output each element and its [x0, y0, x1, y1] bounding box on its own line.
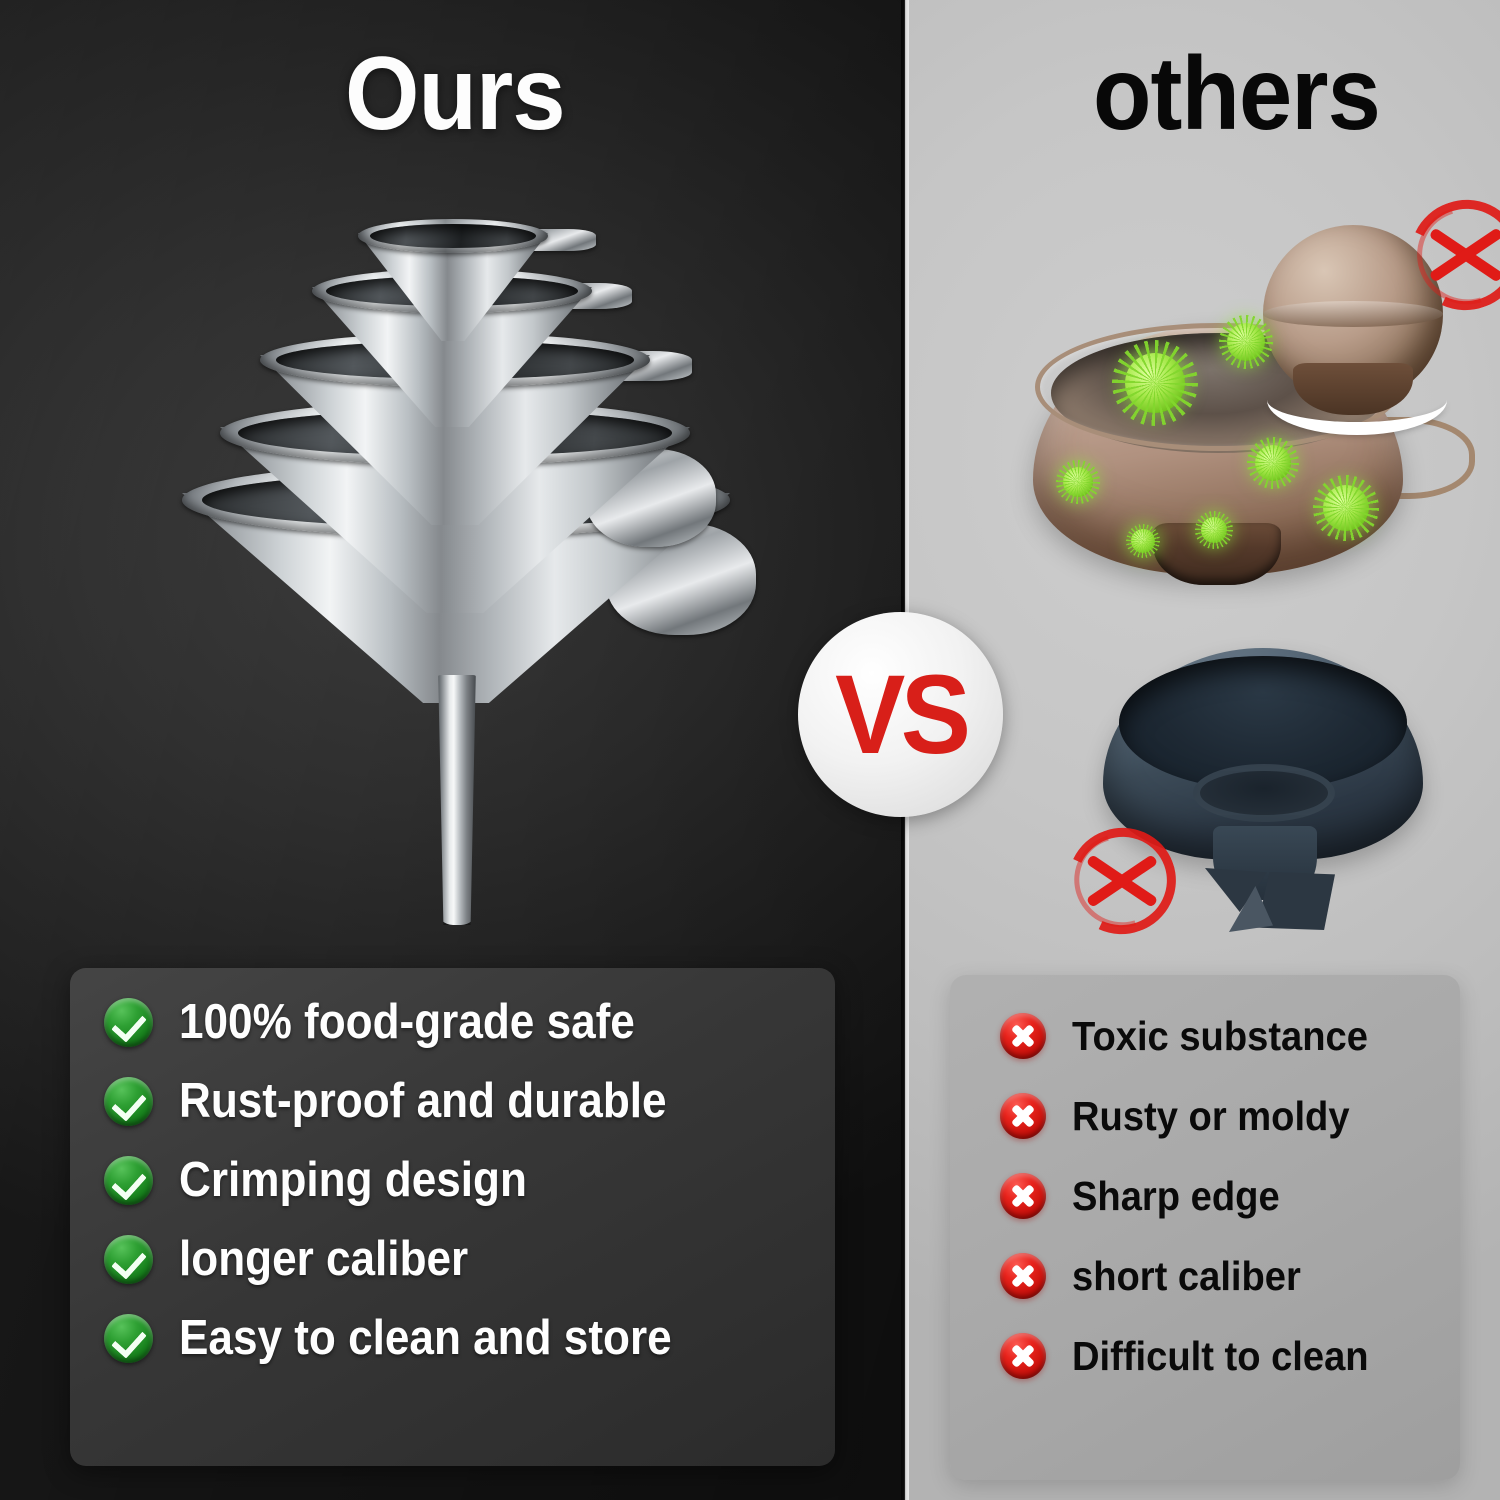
- stacked-funnels-image: [160, 225, 780, 905]
- check-icon: [104, 1156, 153, 1205]
- feature-item: Crimping design: [104, 1156, 835, 1205]
- germ-icon: [1323, 485, 1369, 531]
- red-cross-mark-top: [1410, 200, 1500, 310]
- feature-item: Toxic substance: [1000, 1013, 1460, 1059]
- check-icon: [104, 998, 153, 1047]
- feature-label: longer caliber: [179, 1235, 468, 1284]
- others-feature-panel: Toxic substance Rusty or moldy Sharp edg…: [950, 975, 1460, 1480]
- feature-label: Sharp edge: [1072, 1176, 1280, 1217]
- feature-label: Rust-proof and durable: [179, 1077, 667, 1126]
- feature-item: 100% food-grade safe: [104, 998, 835, 1047]
- x-icon: [1000, 1253, 1046, 1299]
- feature-label: Crimping design: [179, 1156, 527, 1205]
- x-icon: [1000, 1173, 1046, 1219]
- funnel-size-1: [358, 233, 548, 341]
- feature-label: Rusty or moldy: [1072, 1096, 1350, 1137]
- red-cross-mark-bottom: [1068, 828, 1176, 934]
- check-icon: [104, 1077, 153, 1126]
- feature-label: Easy to clean and store: [179, 1314, 672, 1363]
- feature-item: longer caliber: [104, 1235, 835, 1284]
- feature-label: Toxic substance: [1072, 1016, 1368, 1057]
- feature-label: Difficult to clean: [1072, 1336, 1369, 1377]
- feature-item: Easy to clean and store: [104, 1314, 835, 1363]
- germ-icon: [1255, 445, 1291, 481]
- versus-label: VS: [835, 659, 966, 771]
- versus-badge: VS: [798, 612, 1003, 817]
- feature-item: Rust-proof and durable: [104, 1077, 835, 1126]
- ours-feature-list: 100% food-grade safe Rust-proof and dura…: [70, 968, 835, 1363]
- white-highlight-swoosh: [1267, 365, 1447, 435]
- feature-item: short caliber: [1000, 1253, 1460, 1299]
- feature-label: short caliber: [1072, 1256, 1301, 1297]
- ours-title: Ours: [345, 42, 565, 146]
- feature-item: Rusty or moldy: [1000, 1093, 1460, 1139]
- germ-icon: [1131, 529, 1155, 553]
- germ-icon: [1125, 353, 1185, 413]
- funnel-stem: [437, 675, 477, 925]
- feature-item: Difficult to clean: [1000, 1333, 1460, 1379]
- germ-icon: [1201, 517, 1227, 543]
- feature-label: 100% food-grade safe: [179, 998, 635, 1047]
- comparison-infographic: Ours others: [0, 0, 1500, 1500]
- feature-item: Sharp edge: [1000, 1173, 1460, 1219]
- funnel-rim-inner: [370, 224, 536, 248]
- check-icon: [104, 1235, 153, 1284]
- germ-icon: [1063, 467, 1093, 497]
- plastic-funnel-inner-ring: [1193, 764, 1335, 822]
- x-icon: [1000, 1093, 1046, 1139]
- check-icon: [104, 1314, 153, 1363]
- others-feature-list: Toxic substance Rusty or moldy Sharp edg…: [950, 975, 1460, 1379]
- rusty-funnel-image: [1005, 205, 1475, 595]
- x-icon: [1000, 1333, 1046, 1379]
- x-icon: [1000, 1013, 1046, 1059]
- ours-feature-panel: 100% food-grade safe Rust-proof and dura…: [70, 968, 835, 1466]
- germ-icon: [1227, 323, 1265, 361]
- others-title: others: [1093, 42, 1380, 146]
